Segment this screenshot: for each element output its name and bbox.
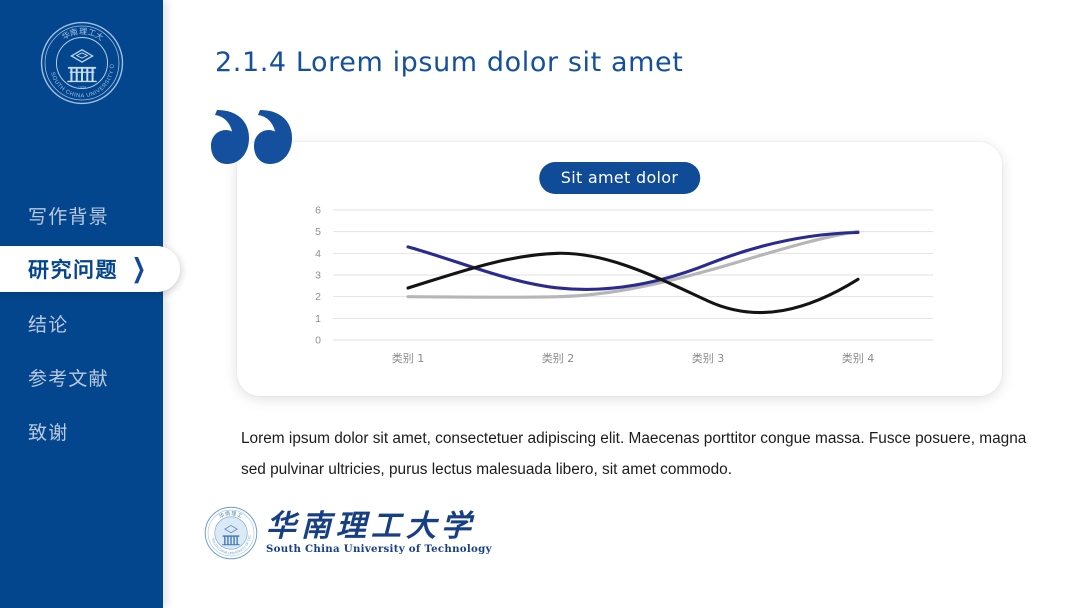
y-tick-6: 6 [315,205,321,217]
series-1-line [408,253,858,312]
svg-text:南: 南 [225,510,231,518]
series-2-line [408,233,858,290]
chevron-right-icon: ❯ [132,256,148,282]
x-tick-1: 类别 2 [542,351,575,365]
chart-card: Sit amet dolor 6 5 4 3 [237,142,1002,396]
slide-canvas: 华 南 理 工 大 SOUTH CHINA UNIVERSITY OF TECH… [0,0,1080,608]
x-tick-2: 类别 3 [692,351,725,365]
sidebar-nav: 写作背景 研究问题 ❯ 结论 参考文献 致谢 [0,188,163,458]
sidebar-item-label: 研究问题 [28,254,118,284]
footer-seal-icon: 华 南 理 工 SOUTH CHINA UNIVERSITY OF TECH [203,505,259,561]
sidebar-item-label: 参考文献 [28,364,109,391]
footer-logo: 华 南 理 工 SOUTH CHINA UNIVERSITY OF TECH [203,505,492,561]
svg-text:1934: 1934 [78,86,86,90]
sidebar-item-label: 结论 [28,310,68,337]
sidebar-item-label: 写作背景 [28,202,109,229]
sidebar-item-3[interactable]: 参考文献 [0,350,163,404]
y-tick-0: 0 [315,335,321,347]
sidebar-item-4[interactable]: 致谢 [0,404,163,458]
y-tick-3: 3 [315,270,321,282]
sidebar-item-1-active[interactable]: 研究问题 ❯ [0,242,163,296]
x-tick-0: 类别 1 [392,351,425,365]
sidebar: 华 南 理 工 大 SOUTH CHINA UNIVERSITY OF TECH… [0,0,163,608]
sidebar-item-0[interactable]: 写作背景 [0,188,163,242]
chart-title-badge: Sit amet dolor [539,162,701,194]
footer-wordmark: 华南理工大学 South China University of Technol… [266,511,492,556]
footer-university-en: South China University of Technology [266,543,492,555]
body-paragraph: Lorem ipsum dolor sit amet, consectetuer… [241,423,1031,485]
x-tick-3: 类别 4 [842,351,875,365]
svg-text:理: 理 [79,27,87,36]
footer-university-cn: 华南理工大学 [266,511,492,543]
y-tick-1: 1 [315,313,321,325]
line-chart: 6 5 4 3 2 1 0 类别 1 类别 2 类 [237,202,1002,382]
y-tick-5: 5 [315,226,321,238]
sidebar-item-label: 致谢 [28,418,68,445]
page-title: 2.1.4 Lorem ipsum dolor sit amet [215,47,683,78]
sidebar-item-2[interactable]: 结论 [0,296,163,350]
main-content: 2.1.4 Lorem ipsum dolor sit amet Sit ame… [163,0,1080,608]
quote-open-icon [211,106,293,172]
y-tick-4: 4 [315,248,321,260]
y-tick-2: 2 [315,291,321,303]
university-seal-icon: 华 南 理 工 大 SOUTH CHINA UNIVERSITY OF TECH… [38,19,126,107]
